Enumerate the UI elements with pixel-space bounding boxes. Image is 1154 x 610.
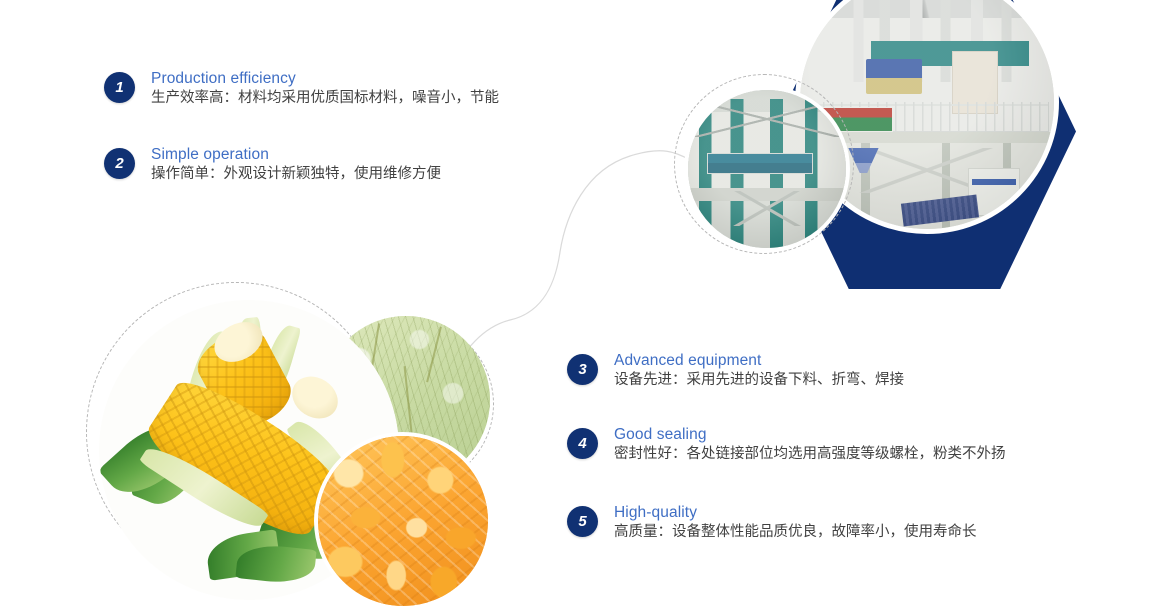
feature-item-3: 3 Advanced equipment 设备先进：采用先进的设备下料、折弯、焊…	[567, 354, 904, 391]
feature-title-zh-5: 高质量：设备整体性能品质优良，故障率小，使用寿命长	[614, 522, 977, 543]
feature-badge-3: 3	[567, 354, 598, 385]
orange-corn-grits-photo	[314, 432, 492, 610]
feature-item-4: 4 Good sealing 密封性好：各处链接部位均选用高强度等级螺栓，粉类不…	[567, 428, 1006, 465]
feature-text-5: High-quality 高质量：设备整体性能品质优良，故障率小，使用寿命长	[614, 503, 977, 543]
infographic-page: { "features": [ { "number": "1", "title_…	[0, 0, 1154, 591]
feature-text-4: Good sealing 密封性好：各处链接部位均选用高强度等级螺栓，粉类不外扬	[614, 425, 1006, 465]
feature-badge-2: 2	[104, 148, 135, 179]
feature-text-2: Simple operation 操作简单：外观设计新颖独特，使用维修方便	[151, 145, 441, 185]
feature-title-en-2: Simple operation	[151, 145, 441, 164]
feature-title-en-3: Advanced equipment	[614, 351, 904, 370]
hexagon-image-group	[660, 0, 1154, 274]
photo-vignette	[688, 90, 846, 248]
feature-title-zh-1: 生产效率高：材料均采用优质国标材料，噪音小，节能	[151, 88, 499, 109]
corn-image-group	[86, 282, 496, 602]
feature-title-en-1: Production efficiency	[151, 69, 499, 88]
feature-title-en-4: Good sealing	[614, 425, 1006, 444]
feature-badge-5: 5	[567, 506, 598, 537]
feature-text-3: Advanced equipment 设备先进：采用先进的设备下料、折弯、焊接	[614, 351, 904, 391]
feature-title-zh-4: 密封性好：各处链接部位均选用高强度等级螺栓，粉类不外扬	[614, 444, 1006, 465]
texture-crack	[426, 327, 442, 383]
feature-item-5: 5 High-quality 高质量：设备整体性能品质优良，故障率小，使用寿命长	[567, 506, 977, 543]
feature-item-1: 1 Production efficiency 生产效率高：材料均采用优质国标材…	[104, 72, 499, 109]
feature-badge-1: 1	[104, 72, 135, 103]
corn-cob-tip	[284, 368, 345, 427]
teal-framed-milling-plant-photo	[684, 86, 850, 252]
feature-badge-4: 4	[567, 428, 598, 459]
feature-text-1: Production efficiency 生产效率高：材料均采用优质国标材料，…	[151, 69, 499, 109]
feature-title-zh-3: 设备先进：采用先进的设备下料、折弯、焊接	[614, 370, 904, 391]
feature-item-2: 2 Simple operation 操作简单：外观设计新颖独特，使用维修方便	[104, 148, 441, 185]
feature-title-en-5: High-quality	[614, 503, 977, 522]
feature-title-zh-2: 操作简单：外观设计新颖独特，使用维修方便	[151, 164, 441, 185]
